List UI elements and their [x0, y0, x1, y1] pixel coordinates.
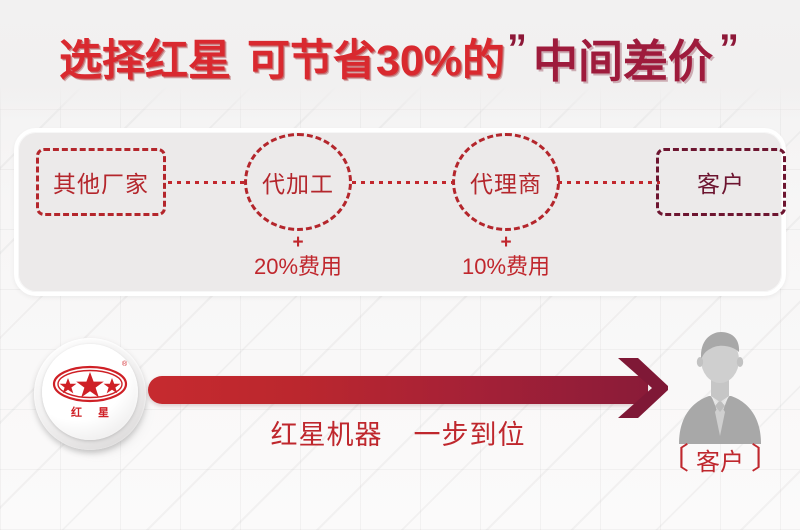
svg-text:®: ® — [122, 360, 128, 368]
flow-node-agent: 代理商 — [452, 133, 560, 231]
connector-1 — [168, 181, 246, 184]
fee-plus-sign: + — [218, 234, 378, 252]
customer-label-text: 客户 — [696, 442, 744, 477]
bracket-left: 〔 — [659, 448, 689, 472]
bracket-right: 〕 — [751, 448, 781, 472]
fee-annotation-2: + 10%费用 — [426, 234, 586, 282]
flow-node-oem-processing: 代加工 — [244, 133, 352, 231]
customer-illustration: 〔 客户 〕 — [655, 326, 785, 476]
flow-node-other-manufacturer: 其他厂家 — [36, 148, 166, 216]
customer-label: 〔 客户 〕 — [655, 442, 785, 477]
arrow-caption-main: 红星机器 — [270, 420, 382, 450]
title-part-1: 选择红星 — [59, 26, 231, 88]
brand-logo: ® 红 星 — [34, 338, 150, 454]
page-title: 选择红星 可节省30%的 ” 中间差价 ” — [0, 26, 800, 88]
fee-annotation-1: + 20%费用 — [218, 234, 378, 282]
flow-diagram-panel: 其他厂家 代加工 + 20%费用 代理商 + 10%费用 客户 — [14, 128, 786, 296]
connector-2 — [352, 181, 452, 184]
arrow-caption-sub: 一步到位 — [414, 420, 526, 450]
flow-diagram-row: 其他厂家 代加工 + 20%费用 代理商 + 10%费用 客户 — [18, 132, 790, 300]
flow-node-label: 代理商 — [470, 165, 542, 199]
flow-node-label: 客户 — [697, 165, 745, 199]
logo-wordmark: 红 星 — [42, 404, 138, 420]
logo-char-right: 星 — [98, 404, 109, 420]
close-quote-mark: ” — [717, 27, 741, 72]
three-stars-icon: ® — [42, 344, 138, 440]
logo-inner-disc: ® 红 星 — [42, 344, 138, 440]
process-arrow-bar — [148, 376, 648, 404]
fee-plus-sign: + — [426, 234, 586, 252]
connector-3 — [558, 181, 660, 184]
businessman-silhouette-icon — [669, 326, 771, 444]
title-part-2: 可节省30%的 — [247, 26, 505, 88]
fee-amount: 20%费用 — [218, 252, 378, 282]
logo-char-left: 红 — [71, 404, 82, 420]
fee-amount: 10%费用 — [426, 252, 586, 282]
title-emphasis: 中间差价 — [529, 25, 717, 90]
flow-node-customer: 客户 — [656, 148, 786, 216]
open-quote-mark: ” — [505, 27, 529, 72]
arrow-caption: 红星机器 一步到位 — [148, 413, 648, 452]
flow-node-label: 其他厂家 — [53, 165, 149, 199]
flow-node-label: 代加工 — [262, 165, 334, 199]
